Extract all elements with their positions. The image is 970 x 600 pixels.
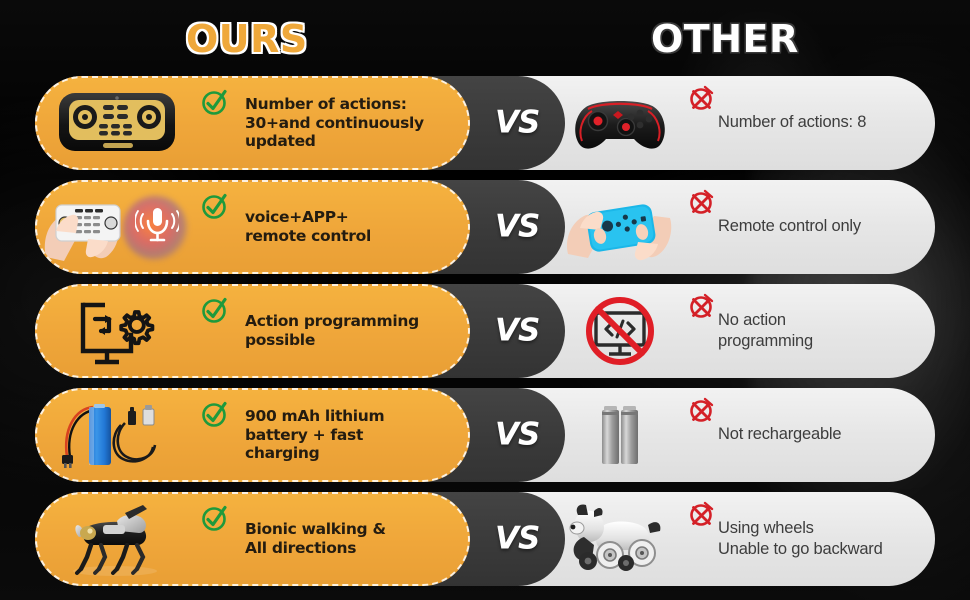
ours-pill: voice+APP+ remote control	[35, 180, 470, 274]
ours-pill: Bionic walking & All directions	[35, 492, 470, 586]
ours-text-line: updated	[245, 132, 458, 151]
black-gold-remote-controller-icon	[37, 76, 197, 170]
ours-pill: 900 mAh lithium battery + fast charging	[35, 388, 470, 482]
vs-label: VS	[495, 212, 539, 243]
comparison-row: Number of actions: 8 VS	[0, 72, 970, 174]
vs-label: VS	[495, 524, 539, 555]
comparison-infographic: OURS OTHER	[0, 0, 970, 600]
vs-label: VS	[495, 108, 539, 139]
two-gray-aa-batteries-icon	[560, 388, 680, 482]
ours-text-line: 30+and continuously	[245, 114, 458, 133]
other-text-line: Unable to go backward	[718, 539, 923, 560]
ours-text-line: Number of actions:	[245, 95, 458, 114]
ours-text: Action programming possible	[197, 312, 468, 350]
green-check-icon	[200, 295, 230, 325]
other-text-line: Using wheels	[718, 518, 923, 539]
ours-text-line: Bionic walking &	[245, 520, 458, 539]
header-row: OURS OTHER	[0, 0, 970, 72]
hands-holding-blue-joycon-icon	[560, 180, 680, 274]
monitor-gear-programming-icon	[37, 284, 197, 378]
green-check-icon	[200, 191, 230, 221]
other-text: Using wheels Unable to go backward	[680, 518, 935, 560]
no-code-monitor-prohibited-icon	[560, 284, 680, 378]
ours-text-line: possible	[245, 331, 458, 350]
red-cross-icon	[688, 84, 716, 112]
vs-label: VS	[495, 316, 539, 347]
ours-text: Number of actions: 30+and continuously u…	[197, 95, 468, 152]
comparison-row: Using wheels Unable to go backward VS	[0, 488, 970, 590]
other-text-line: No action	[718, 310, 923, 331]
ours-text-line: 900 mAh lithium	[245, 407, 458, 426]
hands-holding-remote-with-microphone-icon	[37, 180, 197, 274]
ours-text-line: charging	[245, 444, 458, 463]
red-cross-icon	[688, 188, 716, 216]
header-ours: OURS	[186, 17, 308, 61]
other-side-cell: No action programming	[560, 284, 935, 378]
other-text: Not rechargeable	[680, 424, 935, 445]
ours-text-line: Action programming	[245, 312, 458, 331]
ours-text-line: remote control	[245, 227, 458, 246]
black-red-gamepad-icon	[560, 76, 680, 170]
vs-label: VS	[495, 420, 539, 451]
green-check-icon	[200, 503, 230, 533]
red-cross-icon	[688, 500, 716, 528]
red-cross-icon	[688, 396, 716, 424]
other-text-line: Number of actions: 8	[718, 112, 923, 133]
other-side-cell: Number of actions: 8	[560, 76, 935, 170]
ours-text: Bionic walking & All directions	[197, 520, 468, 558]
green-check-icon	[200, 399, 230, 429]
comparison-row: Not rechargeable VS	[0, 384, 970, 486]
ours-pill: Number of actions: 30+and continuously u…	[35, 76, 470, 170]
black-bionic-robot-dog-icon	[37, 492, 197, 586]
other-side-cell: Not rechargeable	[560, 388, 935, 482]
other-side-cell: Using wheels Unable to go backward	[560, 492, 935, 586]
ours-pill: Action programming possible	[35, 284, 470, 378]
comparison-rows: Number of actions: 8 VS	[0, 72, 970, 592]
other-text: Number of actions: 8	[680, 112, 935, 133]
comparison-row: Remote control only VS	[0, 176, 970, 278]
header-other: OTHER	[651, 17, 799, 61]
ours-text: 900 mAh lithium battery + fast charging	[197, 407, 468, 464]
white-wheeled-robot-dog-icon	[560, 492, 680, 586]
ours-text-line: battery + fast	[245, 426, 458, 445]
other-text-line: Remote control only	[718, 216, 923, 237]
other-text-line: programming	[718, 331, 923, 352]
ours-text-line: voice+APP+	[245, 208, 458, 227]
other-side-cell: Remote control only	[560, 180, 935, 274]
blue-lithium-battery-usb-cable-icon	[37, 388, 197, 482]
red-cross-icon	[688, 292, 716, 320]
green-check-icon	[200, 87, 230, 117]
other-text: Remote control only	[680, 216, 935, 237]
microphone-icon	[135, 202, 179, 246]
other-text-line: Not rechargeable	[718, 424, 923, 445]
ours-text-line: All directions	[245, 539, 458, 558]
comparison-row: No action programming VS	[0, 280, 970, 382]
other-text: No action programming	[680, 310, 935, 352]
ours-text: voice+APP+ remote control	[197, 208, 468, 246]
